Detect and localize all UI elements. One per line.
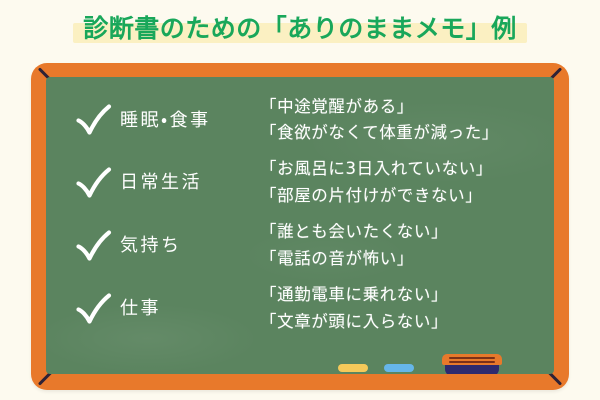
chalk-yellow-icon <box>338 364 368 372</box>
checkmark-cell <box>68 103 120 137</box>
eraser-stripe <box>449 361 495 363</box>
quote-list: 「通勤電車に乗れない」 「文章が頭に入らない」 <box>260 282 546 335</box>
chalkboard-frame: 睡眠・食事 「中途覚醒がある」 「食欲がなくて体重が減った」 日常生活 「お風呂… <box>31 63 569 390</box>
chalk-blue-icon <box>384 364 414 372</box>
chalkboard-surface: 睡眠・食事 「中途覚醒がある」 「食欲がなくて体重が減った」 日常生活 「お風呂… <box>46 77 554 374</box>
check-mark-icon <box>75 166 113 200</box>
memo-row: 気持ち 「誰とも会いたくない」 「電話の音が怖い」 <box>68 215 546 278</box>
quote-list: 「お風呂に3日入れていない」 「部屋の片付けができない」 <box>260 156 546 209</box>
category-label: 仕事 <box>120 298 260 320</box>
quote-item: 「中途覚醒がある」 <box>260 94 546 121</box>
checkmark-cell <box>68 229 120 263</box>
quote-item: 「文章が頭に入らない」 <box>260 309 546 336</box>
eraser-top <box>442 354 502 365</box>
quote-item: 「お風呂に3日入れていない」 <box>260 156 546 183</box>
memo-row: 仕事 「通勤電車に乗れない」 「文章が頭に入らない」 <box>68 277 546 340</box>
checkmark-cell <box>68 292 120 326</box>
page-title: 診断書のための「ありのままメモ」例 <box>83 14 517 43</box>
quote-item: 「部屋の片付けができない」 <box>260 183 546 210</box>
memo-row: 睡眠・食事 「中途覚醒がある」 「食欲がなくて体重が減った」 <box>68 89 546 152</box>
category-label: 日常生活 <box>120 172 260 194</box>
title-wrapper: 診断書のための「ありのままメモ」例 <box>73 12 527 46</box>
check-mark-icon <box>75 229 113 263</box>
checkmark-cell <box>68 166 120 200</box>
category-label: 睡眠・食事 <box>120 110 260 132</box>
memo-row-list: 睡眠・食事 「中途覚醒がある」 「食欲がなくて体重が減った」 日常生活 「お風呂… <box>68 89 546 340</box>
page-title-area: 診断書のための「ありのままメモ」例 <box>0 0 600 58</box>
quote-item: 「通勤電車に乗れない」 <box>260 282 546 309</box>
quote-item: 「誰とも会いたくない」 <box>260 219 546 246</box>
check-mark-icon <box>75 103 113 137</box>
quote-item: 「電話の音が怖い」 <box>260 246 546 273</box>
check-mark-icon <box>75 292 113 326</box>
quote-list: 「中途覚醒がある」 「食欲がなくて体重が減った」 <box>260 94 546 147</box>
memo-row: 日常生活 「お風呂に3日入れていない」 「部屋の片付けができない」 <box>68 152 546 215</box>
quote-item: 「食欲がなくて体重が減った」 <box>260 120 546 147</box>
quote-list: 「誰とも会いたくない」 「電話の音が怖い」 <box>260 219 546 272</box>
chalk-tray <box>338 350 538 374</box>
eraser-stripe <box>449 357 495 359</box>
category-label: 気持ち <box>120 235 260 257</box>
blackboard-eraser-icon <box>442 354 502 374</box>
